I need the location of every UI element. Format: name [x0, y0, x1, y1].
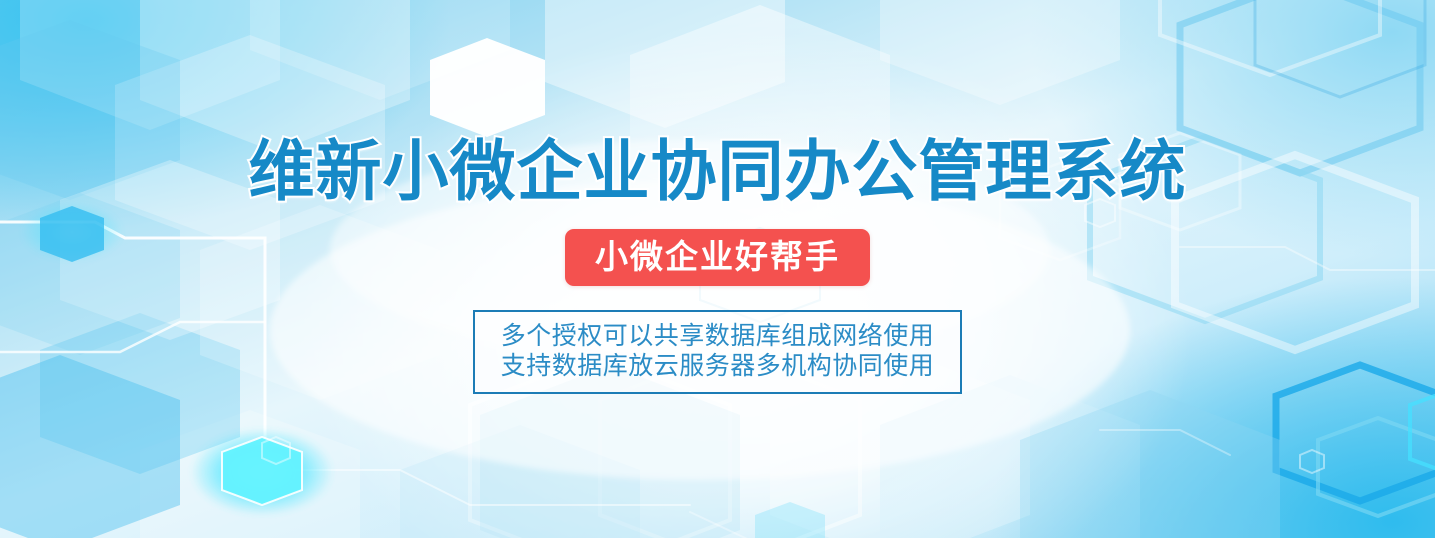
page-title: 维新小微企业协同办公管理系统 — [249, 138, 1187, 205]
feature-info-box: 多个授权可以共享数据库组成网络使用 支持数据库放云服务器多机构协同使用 — [473, 310, 963, 394]
tagline-badge: 小微企业好帮手 — [565, 229, 870, 286]
promo-banner: 维新小微企业协同办公管理系统 小微企业好帮手 多个授权可以共享数据库组成网络使用… — [0, 0, 1435, 538]
feature-line-1: 多个授权可以共享数据库组成网络使用 — [501, 321, 935, 351]
banner-content: 维新小微企业协同办公管理系统 小微企业好帮手 多个授权可以共享数据库组成网络使用… — [0, 0, 1435, 538]
feature-line-2: 支持数据库放云服务器多机构协同使用 — [501, 351, 935, 381]
